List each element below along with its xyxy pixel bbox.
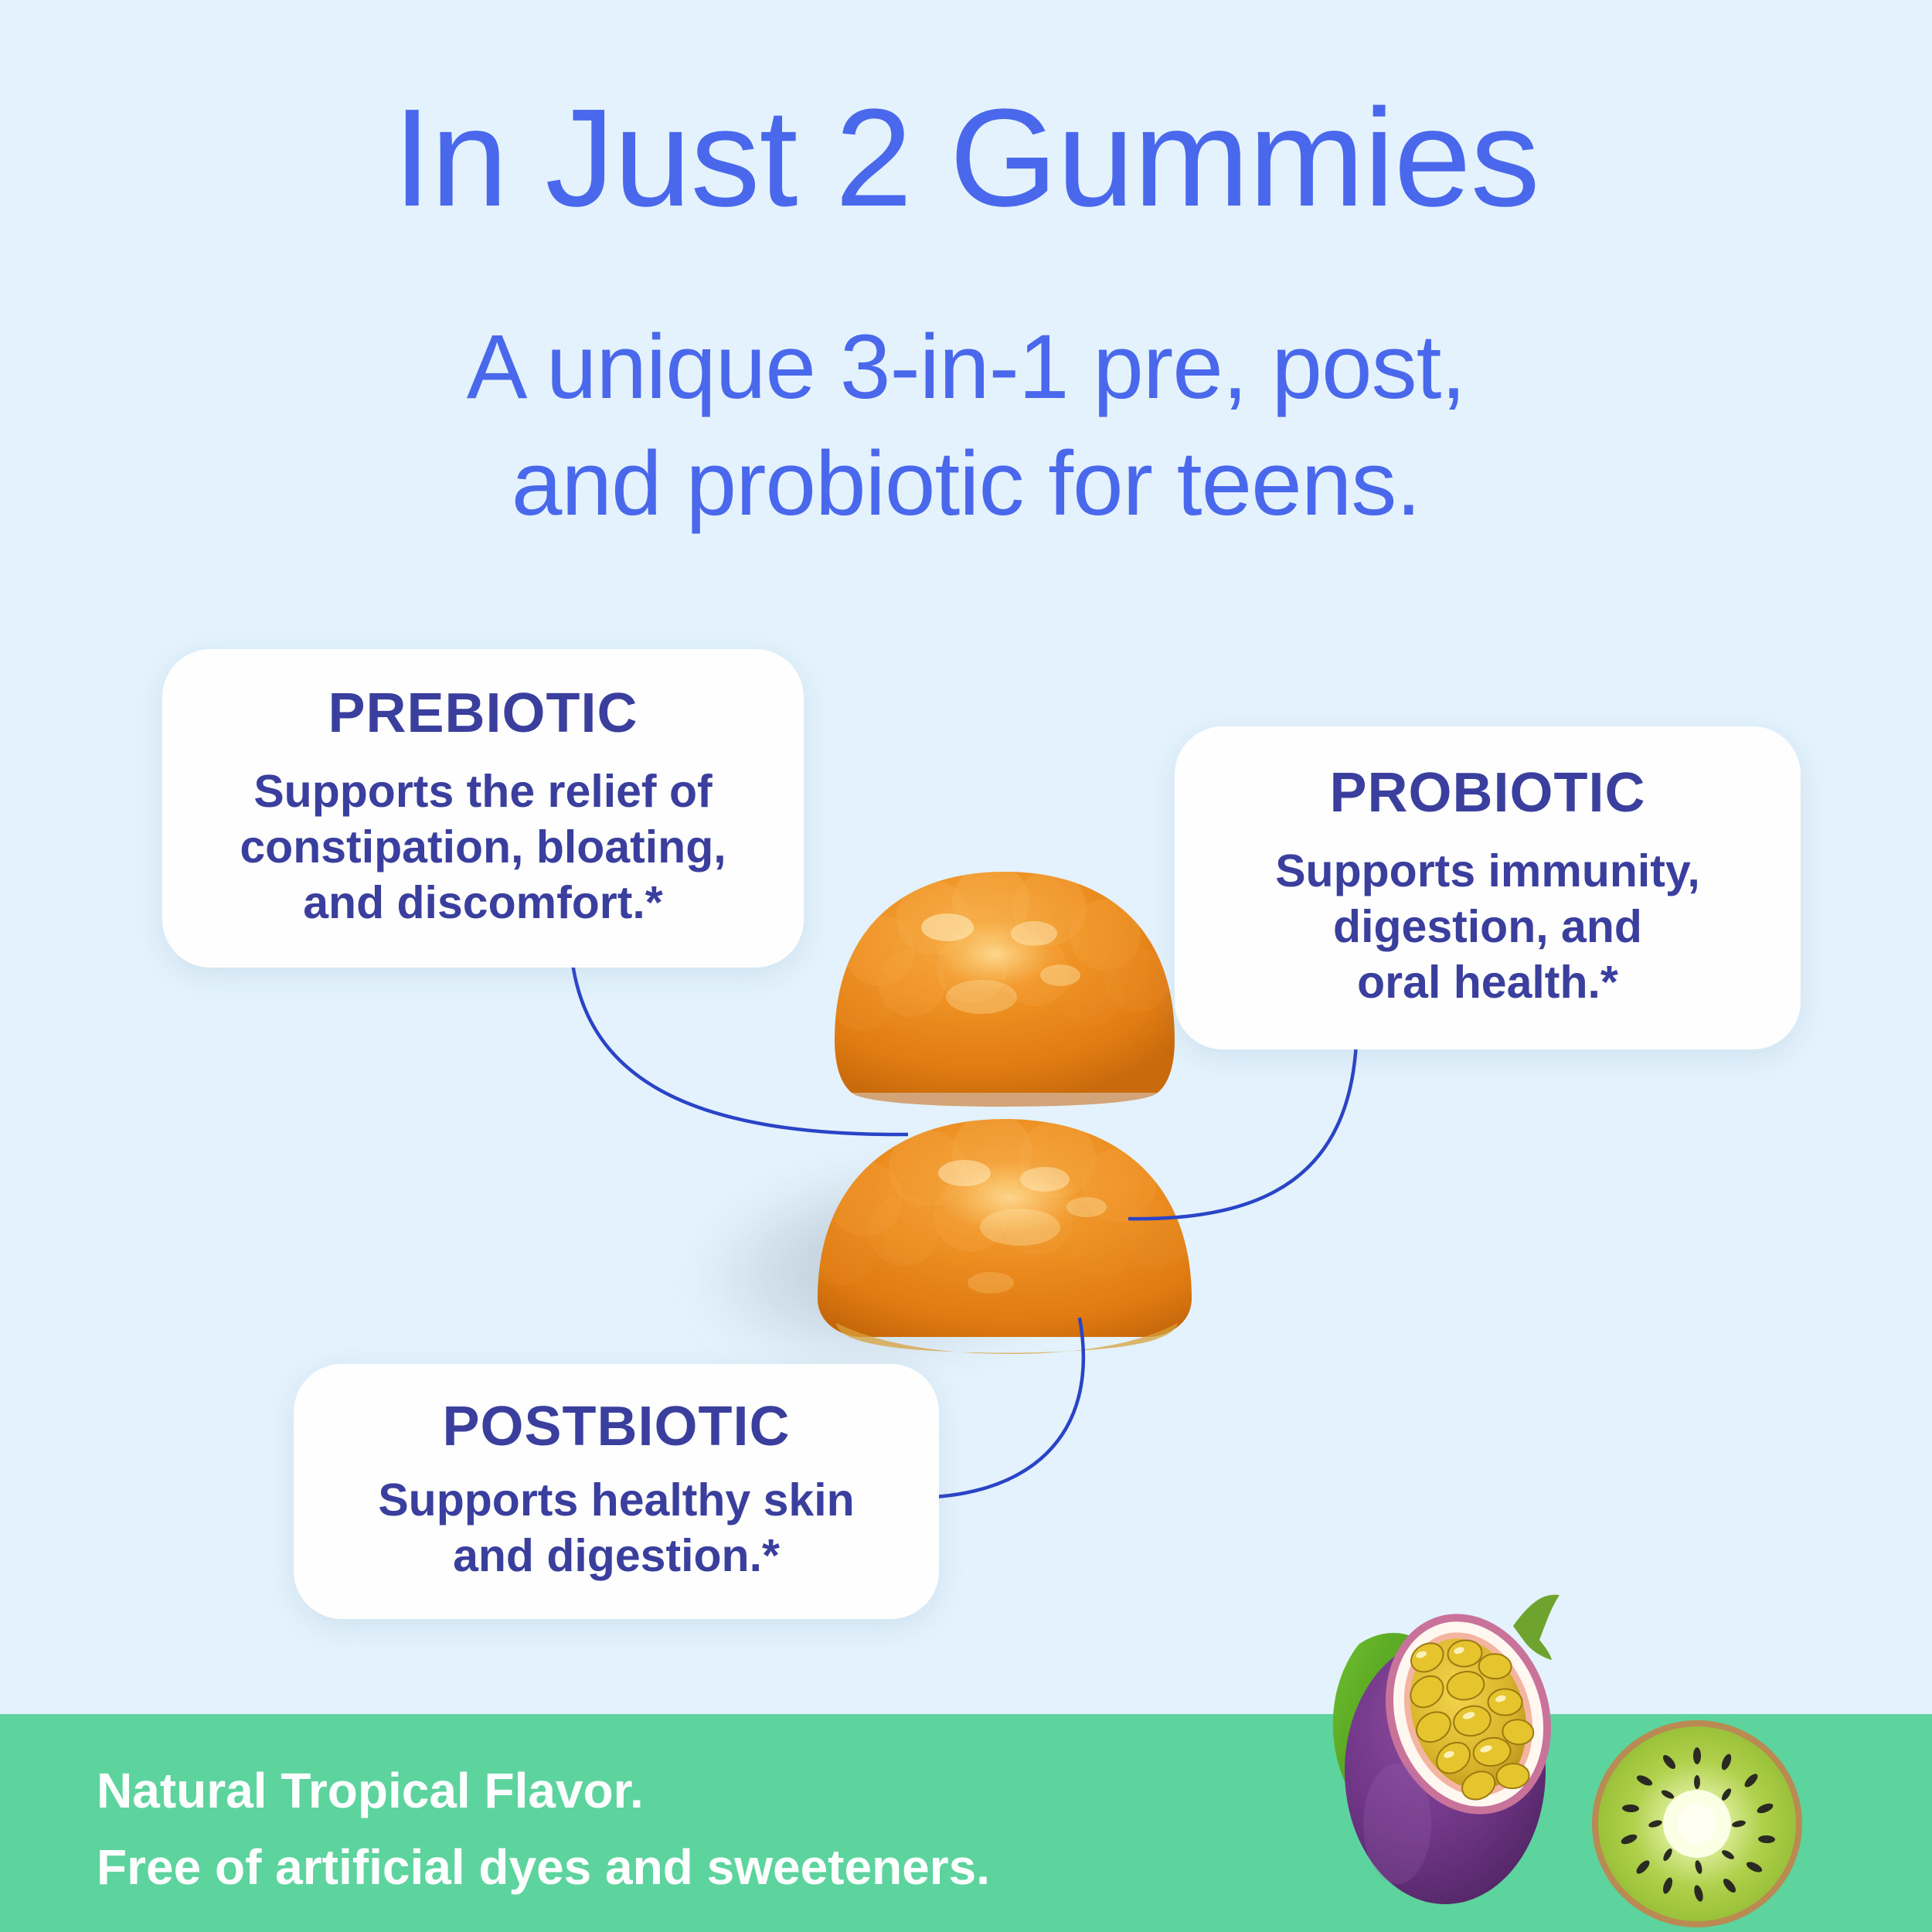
footer-text: Natural Tropical Flavor. Free of artific… (97, 1753, 990, 1906)
card-body-postbiotic: Supports healthy skin and digestion.* (378, 1473, 854, 1584)
card-body-prebiotic: Supports the relief of constipation, blo… (240, 764, 726, 931)
card-body-line: Supports immunity, (1275, 844, 1700, 900)
footer-line-2: Free of artificial dyes and sweeteners. (97, 1829, 990, 1906)
kiwi-icon (1592, 1720, 1802, 1927)
gummy-bottom (808, 1113, 1192, 1354)
card-body-probiotic: Supports immunity, digestion, and oral h… (1275, 844, 1700, 1011)
card-body-line: oral health.* (1275, 955, 1700, 1011)
info-card-postbiotic: POSTBIOTIC Supports healthy skin and dig… (294, 1364, 939, 1619)
page-subtitle: A unique 3-in-1 pre, post, and probiotic… (0, 309, 1932, 543)
card-body-line: digestion, and (1275, 900, 1700, 955)
card-body-line: constipation, bloating, (240, 820, 726, 876)
footer-line-1: Natural Tropical Flavor. (97, 1753, 990, 1829)
card-body-line: Supports healthy skin (378, 1473, 854, 1529)
subtitle-line-1: A unique 3-in-1 pre, post, (0, 309, 1932, 426)
fruit-cluster-image (1314, 1592, 1932, 1932)
card-body-line: and digestion.* (378, 1529, 854, 1584)
card-title-probiotic: PROBIOTIC (1329, 765, 1645, 821)
infographic-canvas: In Just 2 Gummies A unique 3-in-1 pre, p… (0, 0, 1932, 1932)
info-card-prebiotic: PREBIOTIC Supports the relief of constip… (162, 649, 804, 968)
gummy-top (830, 864, 1175, 1107)
card-body-line: and discomfort.* (240, 876, 726, 931)
gummy-stack-image (788, 835, 1221, 1391)
info-card-probiotic: PROBIOTIC Supports immunity, digestion, … (1175, 726, 1801, 1049)
card-body-line: Supports the relief of (240, 764, 726, 820)
page-title: In Just 2 Gummies (0, 85, 1932, 231)
fruits-illustration (1314, 1592, 1932, 1932)
card-title-postbiotic: POSTBIOTIC (442, 1399, 790, 1454)
gummies-illustration (788, 835, 1221, 1391)
subtitle-line-2: and probiotic for teens. (0, 426, 1932, 543)
card-title-prebiotic: PREBIOTIC (328, 685, 638, 741)
